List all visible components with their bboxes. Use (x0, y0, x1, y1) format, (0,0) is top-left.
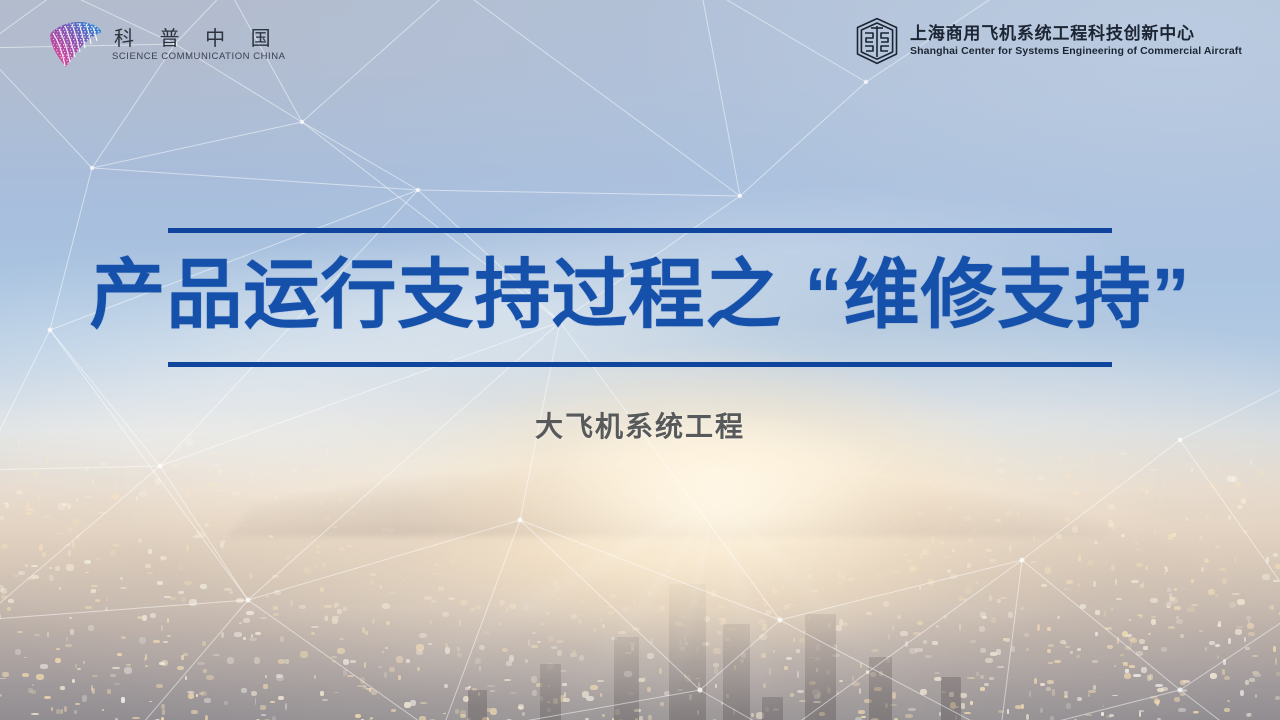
shanghai-center-english-name: Shanghai Center for Systems Engineering … (910, 45, 1242, 59)
presentation-slide: 科 普 中 国 SCIENCE COMMUNICATION CHINA 上海 (0, 0, 1280, 720)
title-rule-bottom (168, 362, 1112, 367)
shanghai-center-chinese-name: 上海商用飞机系统工程科技创新中心 (910, 23, 1242, 44)
kepu-china-wordmark: 科 普 中 国 SCIENCE COMMUNICATION CHINA (112, 28, 286, 62)
shanghai-center-logo: 上海商用飞机系统工程科技创新中心 Shanghai Center for Sys… (855, 17, 1242, 65)
kepu-china-wing-mark-icon (44, 20, 106, 70)
page-title: 产品运行支持过程之 “维修支持” (0, 257, 1280, 335)
kepu-china-chinese-name: 科 普 中 国 (112, 28, 281, 50)
title-block: 产品运行支持过程之 “维修支持” (0, 228, 1280, 367)
kepu-china-english-name: SCIENCE COMMUNICATION CHINA (112, 51, 286, 62)
shanghai-center-emblem-icon (855, 17, 899, 65)
subtitle: 大飞机系统工程 (0, 405, 1280, 445)
title-rule-top (168, 228, 1112, 233)
kepu-china-logo: 科 普 中 国 SCIENCE COMMUNICATION CHINA (44, 20, 286, 70)
shanghai-center-wordmark: 上海商用飞机系统工程科技创新中心 Shanghai Center for Sys… (910, 23, 1242, 59)
